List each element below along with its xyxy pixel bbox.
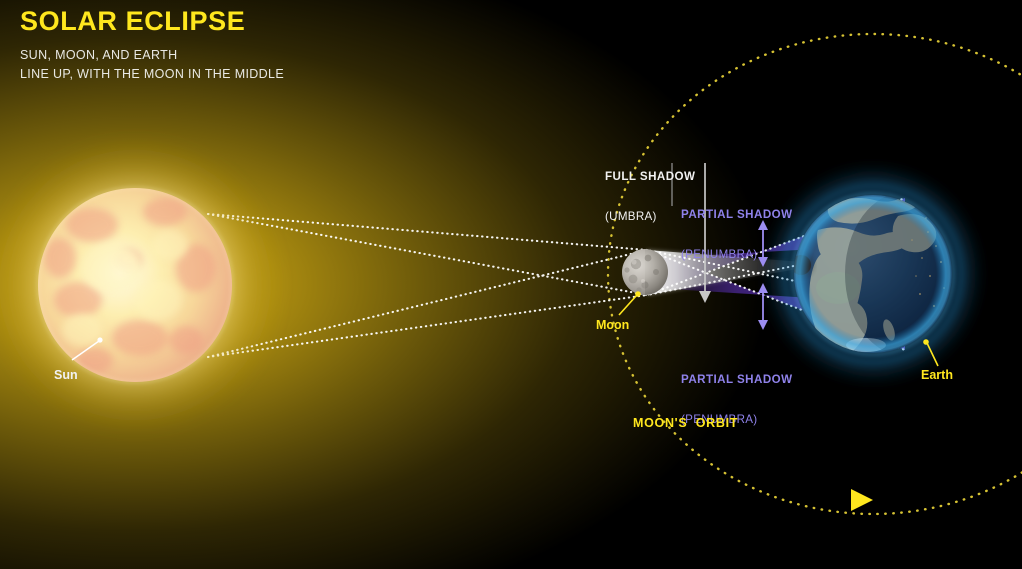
- label-partial-shadow-top: PARTIAL SHADOW (PENUMBRA): [681, 181, 793, 288]
- earth-body: [763, 164, 983, 384]
- label-moon: Moon: [596, 318, 629, 332]
- label-moons-orbit: MOON'S ORBIT: [633, 416, 738, 430]
- label-partial-shadow-top-main: PARTIAL SHADOW: [681, 208, 793, 221]
- page-title: SOLAR ECLIPSE: [20, 6, 284, 37]
- solar-eclipse-diagram: SOLAR ECLIPSE SUN, MOON, AND EARTH LINE …: [0, 0, 1022, 569]
- subtitle-line-2: LINE UP, WITH THE MOON IN THE MIDDLE: [20, 65, 284, 84]
- subtitle: SUN, MOON, AND EARTH LINE UP, WITH THE M…: [20, 46, 284, 84]
- label-partial-shadow-bottom: PARTIAL SHADOW (PENUMBRA): [681, 346, 793, 453]
- title-block: SOLAR ECLIPSE SUN, MOON, AND EARTH LINE …: [20, 6, 284, 84]
- diagram-canvas: [0, 0, 1022, 569]
- label-sun: Sun: [54, 368, 78, 382]
- label-partial-shadow-bottom-main: PARTIAL SHADOW: [681, 373, 793, 386]
- label-earth: Earth: [921, 368, 953, 382]
- subtitle-line-1: SUN, MOON, AND EARTH: [20, 46, 284, 65]
- label-partial-shadow-top-sub: (PENUMBRA): [681, 248, 793, 261]
